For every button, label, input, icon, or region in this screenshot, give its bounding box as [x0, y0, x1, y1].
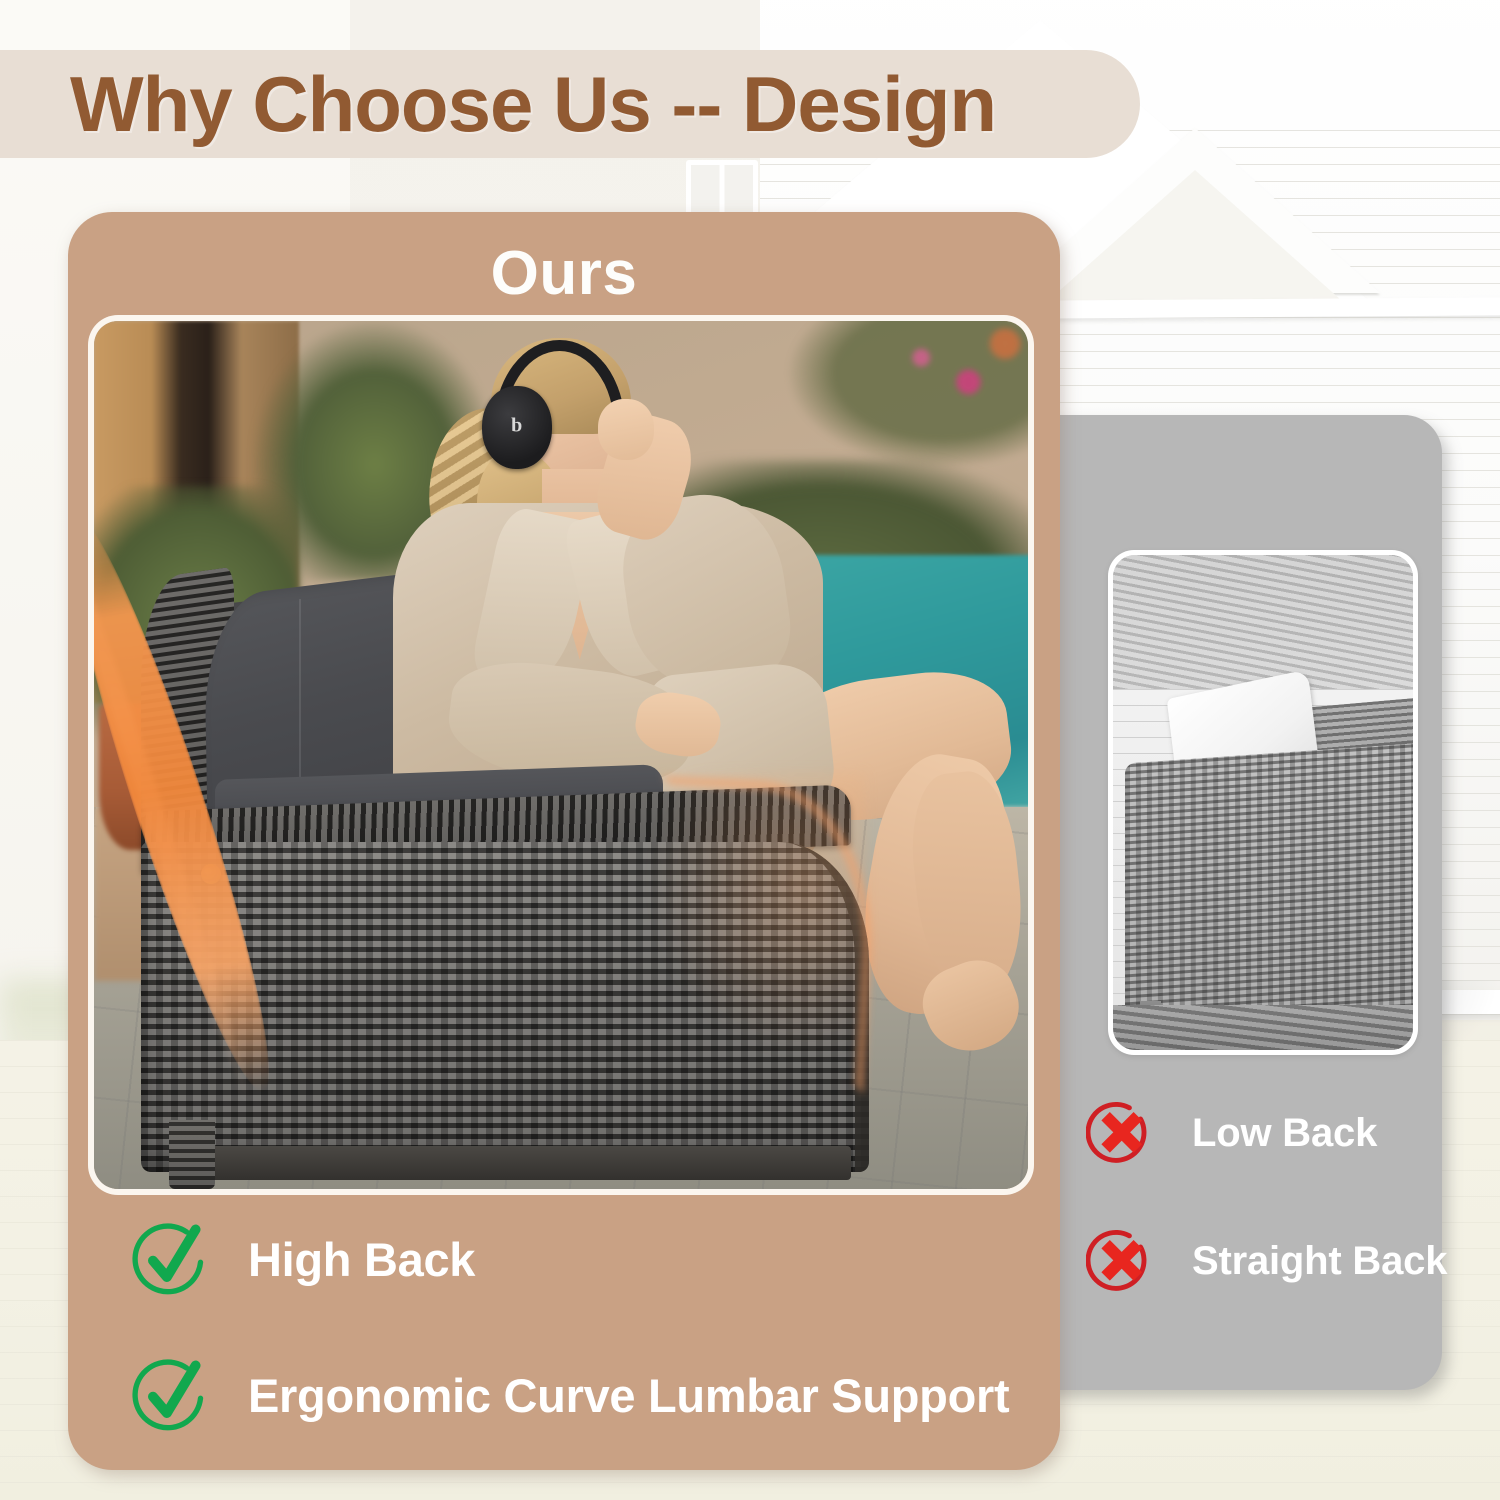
ours-photo	[94, 321, 1028, 1189]
ours-feature-label: Ergonomic Curve Lumbar Support	[248, 1368, 1009, 1423]
headphones-earcup-icon	[482, 386, 552, 468]
ours-feature-label: High Back	[248, 1232, 475, 1287]
ours-feature-item: High Back	[130, 1218, 1009, 1300]
cross-circle-icon	[1086, 1098, 1156, 1168]
check-circle-icon	[130, 1354, 212, 1436]
infographic-canvas: Others Low Back	[0, 0, 1500, 1500]
ours-photo-frame	[88, 315, 1034, 1195]
check-circle-icon	[130, 1218, 212, 1300]
title-banner: Why Choose Us -- Design	[0, 50, 1140, 158]
chair-leg	[169, 1120, 216, 1189]
photo-flowers	[785, 321, 1028, 469]
chair-foot-rail	[178, 1146, 850, 1181]
background-gable-small-inner	[1040, 170, 1350, 308]
others-photo-sky	[1113, 555, 1413, 689]
page-title: Why Choose Us -- Design	[70, 65, 996, 143]
others-feature-label: Low Back	[1192, 1111, 1377, 1156]
others-feature-list: Low Back Straight Back	[1086, 1098, 1447, 1296]
others-photo-ground	[1113, 1005, 1413, 1050]
ours-feature-item: Ergonomic Curve Lumbar Support	[130, 1354, 1009, 1436]
others-feature-item: Straight Back	[1086, 1226, 1447, 1296]
others-photo-frame	[1108, 550, 1418, 1055]
others-feature-item: Low Back	[1086, 1098, 1447, 1168]
ours-feature-list: High Back Ergonomic Curve Lumbar Support	[130, 1218, 1009, 1436]
others-feature-label: Straight Back	[1192, 1239, 1447, 1284]
cross-circle-icon	[1086, 1226, 1156, 1296]
person-hand	[598, 399, 654, 460]
others-photo	[1113, 555, 1413, 1050]
ours-title: Ours	[68, 238, 1060, 309]
others-photo-sofa	[1125, 743, 1413, 1041]
